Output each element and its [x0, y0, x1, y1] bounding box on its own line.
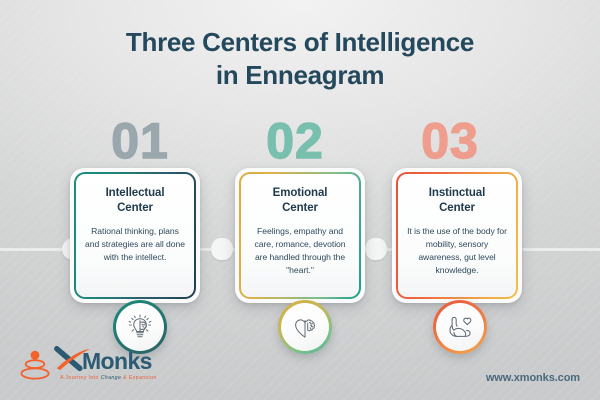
card-title-line-1: Emotional — [273, 187, 328, 199]
lightbulb-brain-icon — [125, 312, 155, 342]
heart-brain-icon — [290, 312, 320, 342]
card-title: Intellectual Center — [85, 186, 185, 216]
card-title: Emotional Center — [250, 186, 350, 216]
badge-disc — [281, 303, 329, 351]
card-border-gradient: Emotional Center Feelings, empathy and c… — [239, 172, 361, 299]
card-content: Emotional Center Feelings, empathy and c… — [241, 174, 359, 297]
card-description: Feelings, empathy and care, romance, dev… — [250, 225, 350, 276]
logo-wordmark: Monks — [82, 348, 152, 375]
title-line-2: in Enneagram — [0, 59, 600, 92]
page-title: Three Centers of Intelligence in Enneagr… — [0, 26, 600, 93]
card-title-line-2: Center — [282, 202, 318, 214]
card-border-gradient: Instinctual Center It is the use of the … — [396, 172, 518, 299]
badge-instinctual — [433, 300, 487, 354]
card-title-line-2: Center — [439, 202, 475, 214]
card-title: Instinctual Center — [407, 186, 507, 216]
card-emotional-center[interactable]: Emotional Center Feelings, empathy and c… — [235, 168, 365, 303]
infographic-canvas: Three Centers of Intelligence in Enneagr… — [0, 0, 600, 400]
flexed-bicep-heart-icon — [445, 312, 476, 343]
card-number-01: 01 — [80, 112, 200, 170]
card-description: Rational thinking, plans and strategies … — [85, 225, 185, 263]
badge-disc — [436, 303, 484, 351]
card-instinctual-center[interactable]: Instinctual Center It is the use of the … — [392, 168, 522, 303]
card-content: Intellectual Center Rational thinking, p… — [76, 174, 194, 297]
brand-logo[interactable]: Monks A Journey Into Change & Expansion — [18, 342, 218, 392]
card-border-gradient: Intellectual Center Rational thinking, p… — [74, 172, 196, 299]
card-intellectual-center[interactable]: Intellectual Center Rational thinking, p… — [70, 168, 200, 303]
card-title-line-2: Center — [117, 202, 153, 214]
card-content: Instinctual Center It is the use of the … — [398, 174, 516, 297]
card-description: It is the use of the body for mobility, … — [407, 225, 507, 276]
card-title-line-1: Instinctual — [429, 187, 485, 199]
tagline-part-a: A Journey Into — [60, 375, 101, 381]
website-url[interactable]: www.xmonks.com — [486, 372, 580, 384]
tagline-part-b: Change — [101, 375, 122, 381]
logo-tagline: A Journey Into Change & Expansion — [60, 375, 157, 381]
connector-node-1 — [211, 238, 233, 260]
card-number-03: 03 — [390, 112, 510, 170]
connector-node-2 — [365, 238, 387, 260]
tagline-part-c: & Expansion — [121, 375, 156, 381]
card-number-02: 02 — [235, 112, 355, 170]
title-line-1: Three Centers of Intelligence — [126, 27, 474, 57]
card-title-line-1: Intellectual — [106, 187, 165, 199]
xmonks-monk-figure-icon — [18, 348, 52, 382]
badge-emotional — [278, 300, 332, 354]
